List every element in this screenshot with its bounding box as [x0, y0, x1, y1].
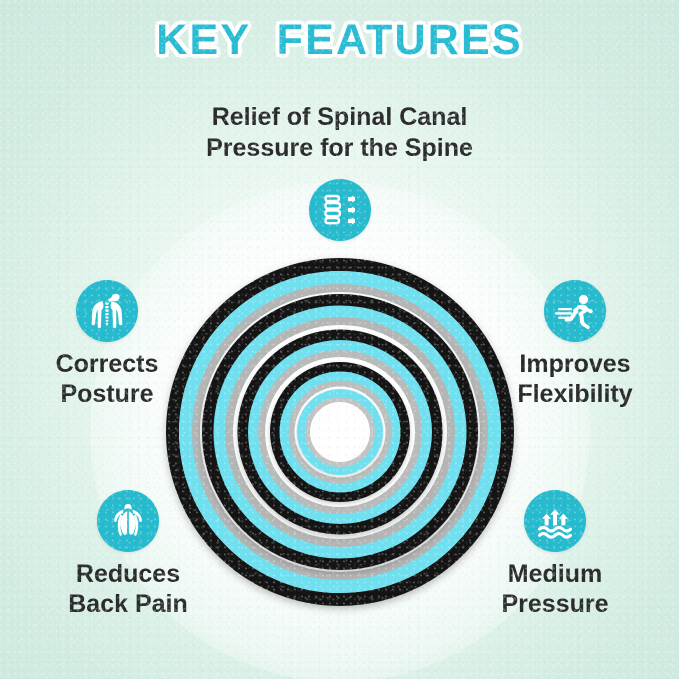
feature-corrects-posture: Corrects Posture	[12, 280, 202, 409]
feature-label-improves-flexibility: Improves Flexibility	[480, 350, 670, 409]
page-title: KEY FEATURES	[0, 16, 679, 65]
feature-medium-pressure: Medium Pressure	[455, 490, 655, 619]
feature-label-corrects-posture: Corrects Posture	[12, 350, 202, 409]
running-person-icon	[544, 280, 606, 342]
feature-reduces-back-pain: Reduces Back Pain	[28, 490, 228, 619]
feature-label-medium-pressure: Medium Pressure	[455, 560, 655, 619]
feature-label-reduces-back-pain: Reduces Back Pain	[28, 560, 228, 619]
feature-improves-flexibility: Improves Flexibility	[480, 280, 670, 409]
key-features-infographic: KEY FEATURES Relief of Spinal Canal Pres…	[0, 0, 679, 679]
band-5-gray-ring	[305, 397, 375, 467]
arrows-waves-icon	[524, 490, 586, 552]
feature-spine-decompression	[309, 179, 371, 241]
posture-spine-icon	[76, 280, 138, 342]
page-subtitle: Relief of Spinal Canal Pressure for the …	[0, 102, 679, 163]
spine-arrows-icon	[309, 179, 371, 241]
back-muscles-icon	[97, 490, 159, 552]
